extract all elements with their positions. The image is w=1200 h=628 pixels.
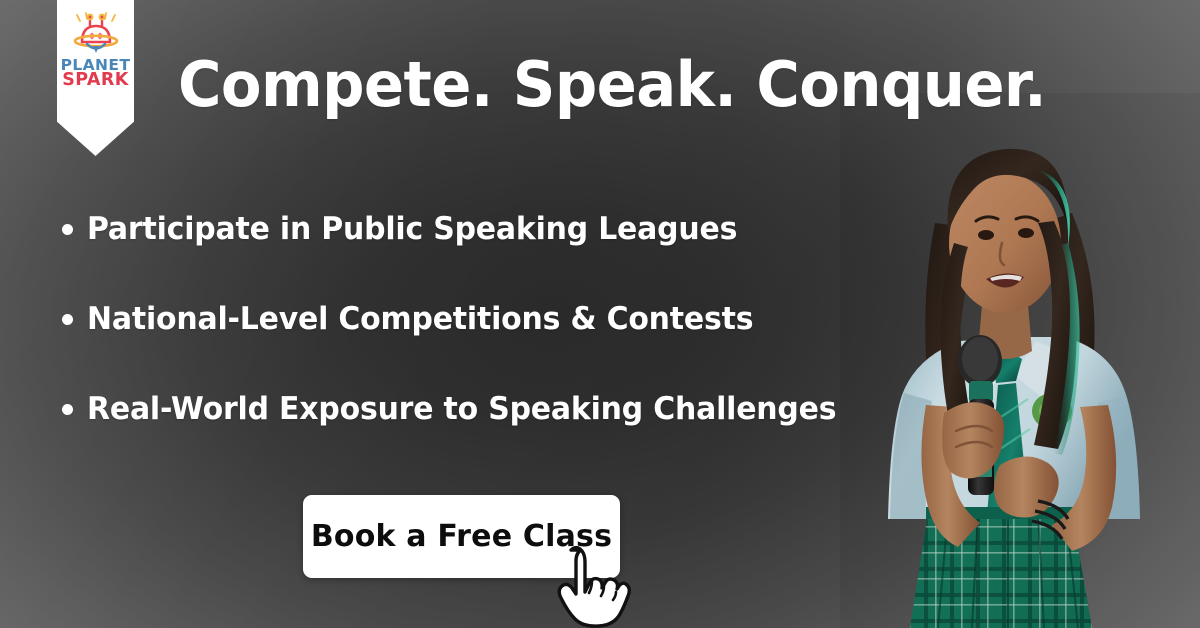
book-free-class-button[interactable]: Book a Free Class <box>303 495 620 578</box>
planetspark-wordmark: PLANET SPARK <box>61 59 131 88</box>
bullet-dot-icon <box>62 314 73 325</box>
list-item: Participate in Public Speaking Leagues <box>62 203 892 255</box>
cta-container: Book a Free Class <box>303 495 620 578</box>
student-photo <box>840 93 1200 628</box>
bullet-dot-icon <box>62 404 73 415</box>
list-item-label: Participate in Public Speaking Leagues <box>87 211 737 247</box>
list-item-label: National-Level Competitions & Contests <box>87 301 753 337</box>
list-item: National-Level Competitions & Contests <box>62 293 892 345</box>
benefit-list: Participate in Public Speaking Leagues N… <box>62 203 892 473</box>
promo-banner: PLANET SPARK Compete. Speak. Conquer. Pa… <box>0 0 1200 628</box>
planetspark-robot-mascot-icon <box>68 10 124 56</box>
page-title: Compete. Speak. Conquer. <box>178 53 1046 117</box>
book-free-class-label: Book a Free Class <box>311 519 612 554</box>
list-item: Real-World Exposure to Speaking Challeng… <box>62 383 892 435</box>
list-item-label: Real-World Exposure to Speaking Challeng… <box>87 391 836 427</box>
bullet-dot-icon <box>62 224 73 235</box>
logo-word-spark: SPARK <box>61 73 131 88</box>
